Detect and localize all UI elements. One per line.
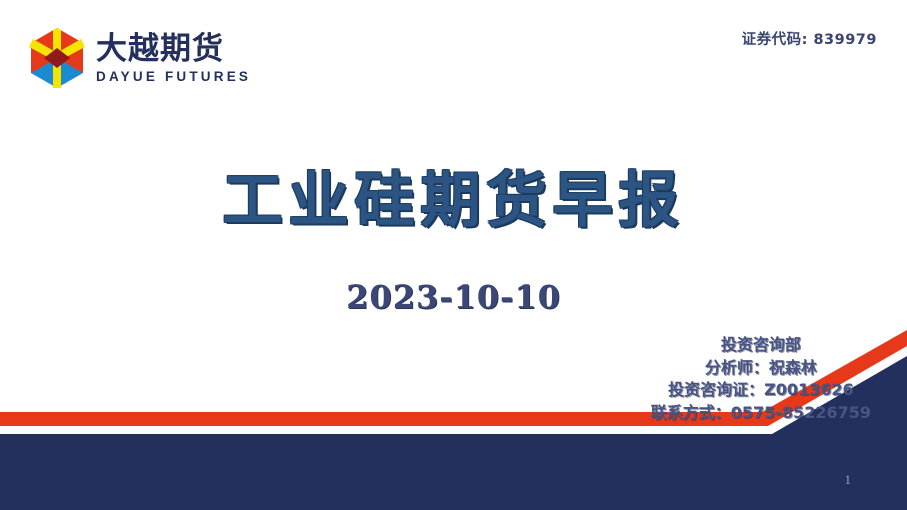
slide-cover: 大越期货 DAYUE FUTURES 证券代码: 839979 工业硅期货早报 …	[0, 0, 907, 510]
contact-line-department: 投资咨询部	[651, 334, 871, 357]
contact-line-license: 投资咨询证：Z0013626	[651, 379, 871, 402]
brand-wordmark: 大越期货 DAYUE FUTURES	[96, 33, 251, 83]
brand-logo: 大越期货 DAYUE FUTURES	[28, 26, 251, 90]
contact-line-phone: 联系方式：0575-85226759	[651, 402, 871, 425]
page-title: 工业硅期货早报	[0, 152, 907, 239]
contact-block: 投资咨询部 分析师：祝森林 投资咨询证：Z0013626 联系方式：0575-8…	[651, 334, 871, 425]
page-number: 1	[845, 472, 852, 488]
report-date: 2023-10-10	[0, 278, 907, 316]
contact-line-analyst: 分析师：祝森林	[651, 357, 871, 380]
brand-name-cn: 大越期货	[96, 33, 251, 66]
brand-name-en: DAYUE FUTURES	[96, 70, 251, 84]
stock-code-label: 证券代码: 839979	[742, 28, 877, 49]
dayue-cube-logo-icon	[28, 26, 86, 90]
